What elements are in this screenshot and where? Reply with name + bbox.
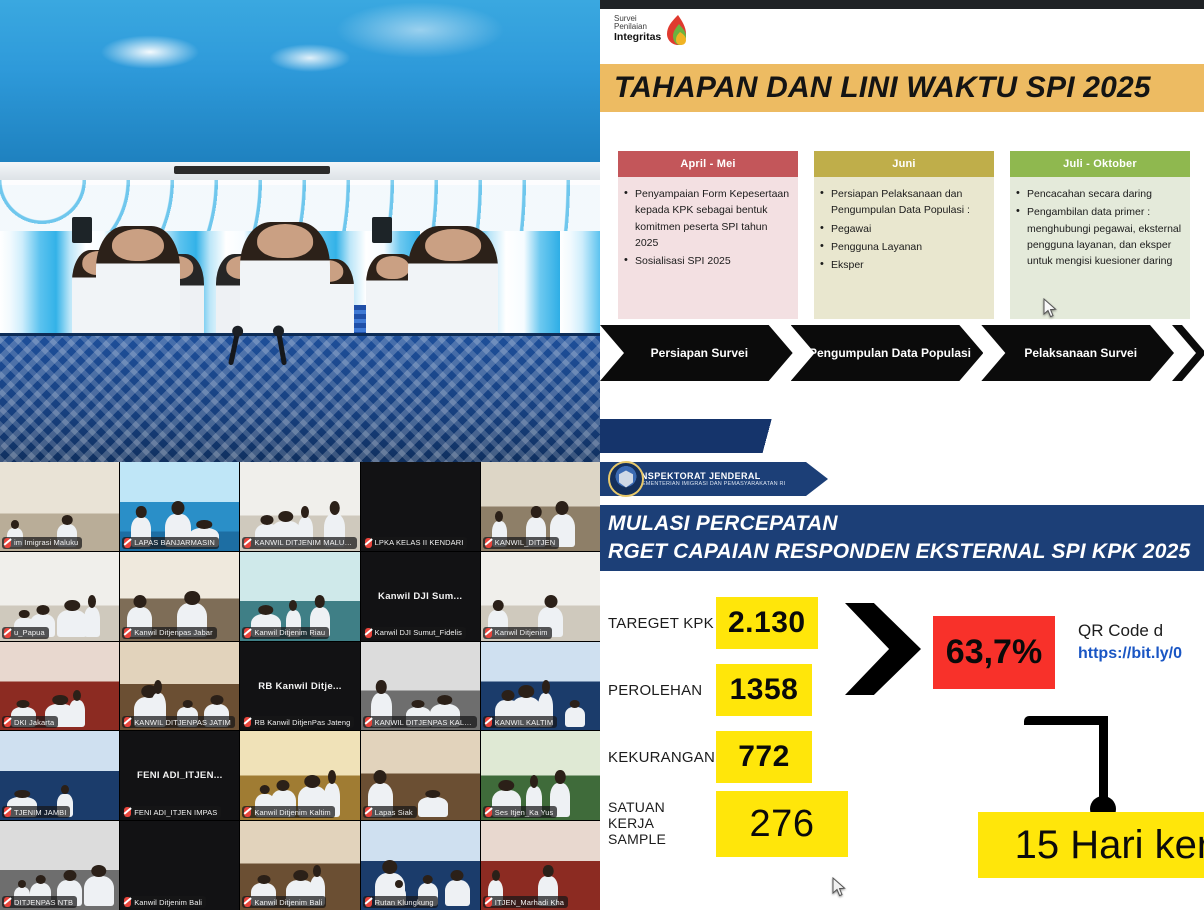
participant-name-bar: Ses Itjen_Ka Yus (483, 806, 558, 818)
participant-name-label: DITJENPAS NTB (14, 898, 73, 907)
org-name-line2: KEMENTERIAN IMIGRASI DAN PEMASYARAKATAN … (638, 481, 785, 487)
metric-value-chip: 772 (716, 731, 812, 783)
microphone-muted-icon (365, 538, 372, 548)
participant-name-bar: TJENIM JAMBI (2, 806, 70, 818)
metric-value-chip-satuan: 276 (716, 791, 848, 857)
participant-name-label: RB Kanwil DitjenPas Jateng (254, 718, 350, 727)
timeline-card: April - MeiPenyampaian Form Kepesertaan … (618, 151, 798, 319)
video-call-left-column: im Imigrasi MalukuLAPAS BANJARMASINKANWI… (0, 0, 600, 910)
participant-name-bar: Kanwil DJI Sumut_Fidelis (363, 627, 466, 639)
qr-caption: QR Code d (1078, 621, 1204, 641)
participant-tile[interactable]: im Imigrasi Maluku (0, 462, 119, 551)
participant-tile[interactable]: RB Kanwil Ditje...RB Kanwil DitjenPas Ja… (240, 642, 359, 731)
metric-row-satuan: SATUANKERJASAMPLE276 (608, 794, 968, 854)
timeline-card-subitem: Pengguna Layanan (820, 239, 986, 255)
process-step-chevron: Pengumpulan Data Populasi (791, 325, 984, 381)
participant-name-label: Rutan Klungkung (375, 898, 434, 907)
metric-label-satuan: SATUANKERJASAMPLE (608, 800, 716, 847)
metric-row: KEKURANGAN772 (608, 727, 968, 787)
microphone-muted-icon (4, 628, 11, 638)
participant-grid[interactable]: im Imigrasi MalukuLAPAS BANJARMASINKANWI… (0, 462, 600, 910)
person-silhouette (57, 610, 87, 637)
participant-name-bar: Kanwil Ditjenpas Jabar (122, 627, 217, 639)
org-name-line1: INSPEKTORAT JENDERAL (638, 471, 785, 481)
participant-tile[interactable]: Kanwil Ditjenim Riau (240, 552, 359, 641)
microphone-muted-icon (244, 538, 251, 548)
participant-center-name: Kanwil DJI Sum... (361, 591, 480, 602)
process-step-chevron-partial (1172, 325, 1204, 381)
microphone-muted-icon (485, 538, 492, 548)
participant-name-bar: Rutan Klungkung (363, 896, 438, 908)
participant-name-label: FENI ADI_ITJEN IMPAS (134, 808, 217, 817)
participant-tile[interactable]: Kanwil Ditjenim (481, 552, 600, 641)
metric-label-line: SAMPLE (608, 832, 716, 848)
participant-name-bar: Kanwil Ditjenim Riau (242, 627, 329, 639)
person-silhouette (84, 607, 99, 637)
participant-name-bar: KANWIL DITJENPAS KALSEL (363, 716, 477, 728)
percentage-badge: 63,7% (933, 616, 1055, 689)
participant-tile[interactable]: Lapas Siak (361, 731, 480, 820)
ceiling-light-bar (174, 166, 330, 173)
participant-name-bar: Kanwil Ditjenim Kaltim (242, 806, 334, 818)
timeline-card-item: Pengambilan data primer : menghubungi pe… (1016, 204, 1182, 269)
window-top-chrome (600, 0, 1204, 9)
microphone-muted-icon (4, 538, 11, 548)
participant-name-bar: KANWIL_DITJEN (483, 537, 559, 549)
person-silhouette (84, 876, 114, 906)
metric-label: TAREGET KPK (608, 615, 716, 632)
participant-tile[interactable]: TJENIM JAMBI (0, 731, 119, 820)
participant-name-label: LPKA KELAS II KENDARI (375, 538, 464, 547)
microphone-muted-icon (485, 807, 492, 817)
slide-footer-stripe (600, 419, 1204, 453)
microphone-muted-icon (485, 717, 492, 727)
participant-name-label: Ses Itjen_Ka Yus (495, 808, 554, 817)
qr-link[interactable]: https://bit.ly/0 (1078, 645, 1204, 663)
shared-screen-right-column: Survei Penilaian Integritas TAHAPAN DAN … (600, 0, 1204, 910)
participant-tile[interactable]: KANWIL DITJENPAS KALSEL (361, 642, 480, 731)
participant-name-bar: Kanwil Ditjenim Bali (242, 896, 326, 908)
wall-speaker-right (372, 217, 392, 243)
participant-center-name: FENI ADI_ITJEN... (120, 770, 239, 781)
participant-name-label: ITJEN_Marhadi Kha (495, 898, 564, 907)
person-silhouette (418, 797, 448, 817)
spi-logo: Survei Penilaian Integritas (614, 15, 686, 45)
process-chevron-bar: Persiapan SurveiPengumpulan Data Populas… (600, 325, 1204, 381)
participant-tile[interactable]: Kanwil Ditjenim Bali (120, 821, 239, 910)
participant-name-bar: RB Kanwil DitjenPas Jateng (242, 716, 354, 728)
timeline-card-item: Sosialisasi SPI 2025 (624, 253, 790, 269)
participant-tile[interactable]: KANWIL DITJENIM MALUKU ... (240, 462, 359, 551)
spi-logo-line3: Integritas (614, 32, 661, 43)
percentage-value: 63,7% (946, 633, 1042, 672)
process-step-chevron: Pelaksanaan Survei (981, 325, 1174, 381)
timeline-card: Juli - OktoberPencacahan secara daringPe… (1010, 151, 1190, 319)
participant-tile[interactable]: DITJENPAS NTB (0, 821, 119, 910)
days-value: 15 Hari kerja (1015, 823, 1204, 868)
wall-speaker-left (72, 217, 92, 243)
participant-name-label: Lapas Siak (375, 808, 413, 817)
main-speaker-video[interactable] (0, 0, 600, 462)
metric-value-chip: 2.130 (716, 597, 818, 649)
participant-center-name: RB Kanwil Ditje... (240, 681, 359, 692)
participant-name-label: Kanwil Ditjenim Kaltim (254, 808, 330, 817)
timeline-card: JuniPersiapan Pelaksanaan dan Pengumpula… (814, 151, 994, 319)
participant-name-bar: LPKA KELAS II KENDARI (363, 537, 468, 549)
participant-name-bar: Kanwil Ditjenim Bali (122, 896, 206, 908)
microphone-muted-icon (365, 807, 372, 817)
process-step-chevron: Persiapan Survei (600, 325, 793, 381)
metric-value-chip: 1358 (716, 664, 812, 716)
participant-name-label: DKI Jakarta (14, 718, 54, 727)
participant-name-label: KANWIL DITJENPAS KALSEL (375, 718, 473, 727)
timeline-card-subitem: Eksper (820, 257, 986, 273)
participant-name-label: KANWIL KALTIM (495, 718, 553, 727)
timeline-cards: April - MeiPenyampaian Form Kepesertaan … (600, 151, 1204, 319)
microphone-muted-icon (124, 538, 131, 548)
ceiling-backdrop (0, 0, 600, 171)
microphone-muted-icon (485, 897, 492, 907)
microphone-muted-icon (4, 807, 11, 817)
microphone-muted-icon (124, 717, 131, 727)
person-silhouette (445, 880, 470, 907)
microphone-muted-icon (244, 807, 251, 817)
participant-tile[interactable]: LAPAS BANJARMASIN (120, 462, 239, 551)
person-silhouette (565, 707, 585, 727)
participant-name-bar: Kanwil Ditjenim (483, 627, 552, 639)
participant-name-bar: LAPAS BANJARMASIN (122, 537, 219, 549)
timeline-card-header: April - Mei (618, 151, 798, 177)
screen-root: im Imigrasi MalukuLAPAS BANJARMASINKANWI… (0, 0, 1204, 910)
participant-name-label: u_Papua (14, 628, 45, 637)
participant-name-label: im Imigrasi Maluku (14, 538, 78, 547)
timeline-card-body: Persiapan Pelaksanaan dan Pengumpulan Da… (814, 177, 994, 319)
participant-name-bar: Lapas Siak (363, 806, 417, 818)
participant-name-label: KANWIL DITJENIM MALUKU ... (254, 538, 352, 547)
metrics-rows: TAREGET KPK2.130PEROLEHAN1358KEKURANGAN7… (608, 593, 968, 861)
participant-tile[interactable]: Kanwil Ditjenim Bali (240, 821, 359, 910)
microphone-muted-icon (244, 897, 251, 907)
microphone-muted-icon (4, 897, 11, 907)
participant-name-bar: im Imigrasi Maluku (2, 537, 82, 549)
metric-label: KEKURANGAN (608, 749, 716, 766)
microphone-muted-icon (365, 628, 372, 638)
participant-tile[interactable]: ITJEN_Marhadi Kha (481, 821, 600, 910)
timeline-card-item: Pencacahan secara daring (1016, 186, 1182, 202)
participant-name-label: Kanwil Ditjenim Bali (254, 898, 322, 907)
microphone-muted-icon (485, 628, 492, 638)
microphone-muted-icon (124, 807, 131, 817)
garuda-seal-icon (608, 461, 644, 497)
participant-tile[interactable]: Kanwil DJI Sum...Kanwil DJI Sumut_Fideli… (361, 552, 480, 641)
slide-simulasi-percepatan[interactable]: INSPEKTORAT JENDERAL KEMENTERIAN IMIGRAS… (600, 453, 1204, 910)
participant-tile[interactable]: Ses Itjen_Ka Yus (481, 731, 600, 820)
participant-name-bar: u_Papua (2, 627, 49, 639)
participant-tile[interactable]: KANWIL_DITJEN (481, 462, 600, 551)
callout-connector (1024, 716, 1108, 816)
participant-name-label: Kanwil Ditjenim (495, 628, 548, 637)
participant-name-bar: KANWIL KALTIM (483, 716, 557, 728)
timeline-card-body: Pencacahan secara daringPengambilan data… (1010, 177, 1190, 319)
microphone-muted-icon (124, 897, 131, 907)
timeline-card-item: Penyampaian Form Kepesertaan kepada KPK … (624, 186, 790, 251)
metric-label: PEROLEHAN (608, 682, 716, 699)
participant-tile[interactable]: KANWIL DITJENPAS JATIM (120, 642, 239, 731)
person-silhouette (69, 700, 84, 727)
participant-tile[interactable]: Rutan Klungkung (361, 821, 480, 910)
slide-tahapan-lini-waktu[interactable]: Survei Penilaian Integritas TAHAPAN DAN … (600, 9, 1204, 453)
qr-code-block: QR Code d https://bit.ly/0 (1078, 621, 1204, 663)
participant-name-label: TJENIM JAMBI (14, 808, 66, 817)
timeline-card-item: Persiapan Pelaksanaan dan Pengumpulan Da… (820, 186, 986, 219)
metric-row: PEROLEHAN1358 (608, 660, 968, 720)
microphone-muted-icon (365, 717, 372, 727)
timeline-card-body: Penyampaian Form Kepesertaan kepada KPK … (618, 177, 798, 319)
participant-name-bar: FENI ADI_ITJEN IMPAS (122, 806, 221, 818)
timeline-card-header: Juni (814, 151, 994, 177)
participant-name-bar: DITJENPAS NTB (2, 896, 77, 908)
participant-tile[interactable]: u_Papua (0, 552, 119, 641)
participant-tile[interactable]: Kanwil Ditjenim Kaltim (240, 731, 359, 820)
participant-name-label: Kanwil DJI Sumut_Fidelis (375, 628, 462, 637)
participant-name-bar: KANWIL DITJENIM MALUKU ... (242, 537, 356, 549)
participant-name-bar: DKI Jakarta (2, 716, 58, 728)
participant-name-label: LAPAS BANJARMASIN (134, 538, 215, 547)
metric-label-line: KERJA (608, 816, 716, 832)
participant-tile[interactable]: Kanwil Ditjenpas Jabar (120, 552, 239, 641)
participant-name-label: KANWIL_DITJEN (495, 538, 555, 547)
slide-title-text: TAHAPAN DAN LINI WAKTU SPI 2025 (600, 71, 1151, 105)
microphone-muted-icon (365, 897, 372, 907)
participant-name-label: Kanwil Ditjenim Bali (134, 898, 202, 907)
metric-label-line: SATUAN (608, 800, 716, 816)
participant-name-bar: KANWIL DITJENPAS JATIM (122, 716, 235, 728)
participant-tile[interactable]: KANWIL KALTIM (481, 642, 600, 731)
participant-name-bar: ITJEN_Marhadi Kha (483, 896, 568, 908)
days-chip: 15 Hari kerja (978, 812, 1204, 878)
participant-name-label: Kanwil Ditjenpas Jabar (134, 628, 213, 637)
slide-bottom-title-line2: RGET CAPAIAN RESPONDEN EKSTERNAL SPI KPK… (608, 538, 1204, 566)
participant-name-label: Kanwil Ditjenim Riau (254, 628, 325, 637)
timeline-card-subitem: Pegawai (820, 221, 986, 237)
slide-bottom-title-line1: MULASI PERCEPATAN (608, 510, 1204, 538)
microphone-muted-icon (4, 717, 11, 727)
microphone-muted-icon (124, 628, 131, 638)
participant-tile[interactable]: DKI Jakarta (0, 642, 119, 731)
front-table-batik-cloth (0, 333, 600, 462)
timeline-card-header: Juli - Oktober (1010, 151, 1190, 177)
participant-name-label: KANWIL DITJENPAS JATIM (134, 718, 231, 727)
participant-tile[interactable]: LPKA KELAS II KENDARI (361, 462, 480, 551)
slide-bottom-title: MULASI PERCEPATAN RGET CAPAIAN RESPONDEN… (600, 505, 1204, 571)
slide-title-banner: TAHAPAN DAN LINI WAKTU SPI 2025 (600, 64, 1204, 112)
flame-logo-icon (664, 15, 686, 45)
participant-tile[interactable]: FENI ADI_ITJEN...FENI ADI_ITJEN IMPAS (120, 731, 239, 820)
microphone-muted-icon (244, 717, 251, 727)
microphone-muted-icon (244, 628, 251, 638)
